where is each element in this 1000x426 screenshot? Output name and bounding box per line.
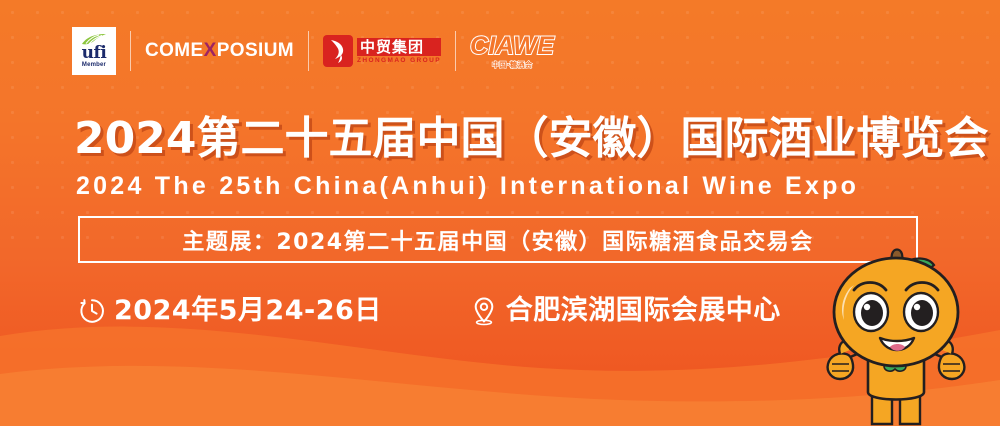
logo-ciawe[interactable]: CIAWE 中国·糖酒会: [470, 26, 554, 76]
location-pin-icon: [470, 296, 498, 326]
ciawe-sub-label: 中国·糖酒会: [492, 60, 533, 70]
comexposium-part-2: POSIUM: [217, 40, 294, 61]
zhongmao-en-name: ZHONGMAO GROUP: [357, 58, 441, 65]
logo-divider: [130, 31, 131, 71]
logo-divider: [308, 31, 309, 71]
logo-zhongmao-group[interactable]: 中贸集团 ZHONGMAO GROUP: [323, 26, 441, 76]
event-date-text: 2024年5月24-26日: [114, 296, 382, 326]
ufi-member-label: Member: [82, 61, 106, 69]
orange-fruit-mascot: [792, 240, 1000, 426]
partner-logo-strip: ufi Member COMEXPOSIUM 中贸集团 ZHON: [72, 26, 554, 76]
event-venue: 合肥滨湖国际会展中心: [470, 296, 781, 326]
main-title-chinese: 2024第二十五届中国（安徽）国际酒业博览会: [74, 113, 988, 165]
expo-banner: ufi Member COMEXPOSIUM 中贸集团 ZHON: [0, 0, 1000, 426]
event-info-row: 2024年5月24-26日 合肥滨湖国际会展中心: [78, 296, 781, 326]
clock-icon: [78, 297, 106, 325]
event-venue-text: 合肥滨湖国际会展中心: [506, 296, 781, 326]
ciawe-wordmark: CIAWE: [470, 33, 554, 59]
logo-divider: [455, 31, 456, 71]
logo-comexposium[interactable]: COMEXPOSIUM: [145, 26, 294, 76]
main-title-english: 2024 The 25th China(Anhui) International…: [76, 171, 859, 201]
zhongmao-cn-name: 中贸集团: [357, 38, 441, 56]
event-date: 2024年5月24-26日: [78, 296, 382, 326]
theme-exhibition-text: 主题展：2024第二十五届中国（安徽）国际糖酒食品交易会: [182, 224, 813, 256]
comexposium-part-1: COME: [145, 40, 204, 61]
zhongmao-seal-icon: [323, 35, 353, 67]
logo-ufi-member[interactable]: ufi Member: [72, 26, 116, 76]
comexposium-x: X: [204, 40, 217, 61]
ufi-wordmark: ufi: [82, 46, 107, 61]
